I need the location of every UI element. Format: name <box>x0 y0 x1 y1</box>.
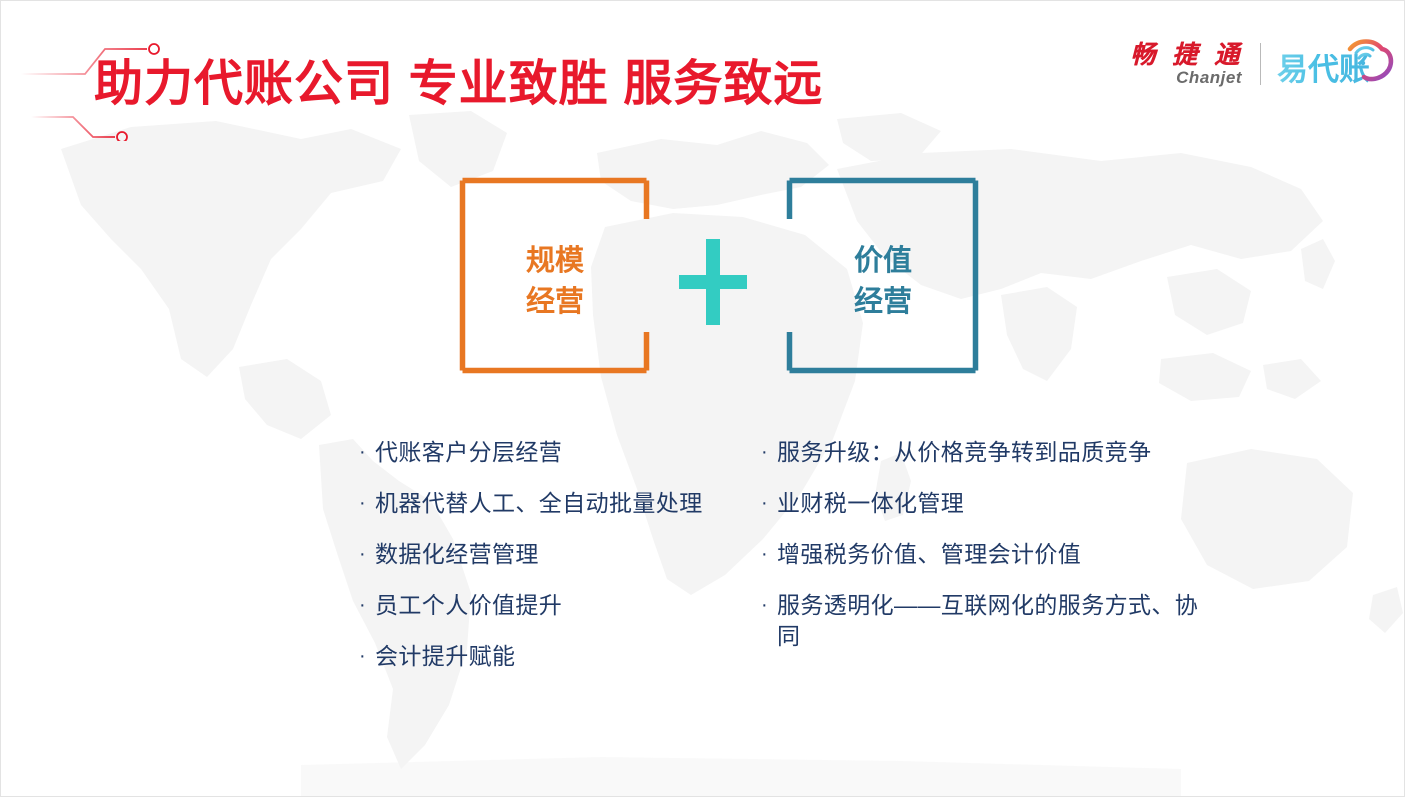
list-item: · 增强税务价值、管理会计价值 <box>761 539 1201 570</box>
cloud-wifi-icon <box>1344 37 1396 92</box>
list-item-label: 机器代替人工、全自动批量处理 <box>375 488 739 519</box>
list-item: · 服务透明化——互联网化的服务方式、协同 <box>761 590 1201 652</box>
list-item-label: 会计提升赋能 <box>375 641 739 672</box>
bullet-icon: · <box>359 539 375 570</box>
list-item: · 机器代替人工、全自动批量处理 <box>359 488 739 519</box>
list-item-label: 员工个人价值提升 <box>375 590 739 621</box>
value-bullet-list: · 服务升级：从价格竞争转到品质竞争 · 业财税一体化管理 · 增强税务价值、管… <box>761 437 1201 672</box>
bullet-icon: · <box>359 641 375 672</box>
list-item-label: 业财税一体化管理 <box>777 488 1201 519</box>
list-item: · 代账客户分层经营 <box>359 437 739 468</box>
logo-divider <box>1260 43 1261 85</box>
bullet-icon: · <box>359 488 375 519</box>
bullet-icon: · <box>761 488 777 519</box>
bullet-icon: · <box>761 437 777 468</box>
bullet-icon: · <box>359 590 375 621</box>
yidaizhang-logo: 易代账 <box>1277 41 1370 87</box>
bullet-icon: · <box>761 539 777 570</box>
bullet-icon: · <box>761 590 777 621</box>
scale-box-label: 规模 经营 <box>460 241 650 323</box>
list-item-label: 数据化经营管理 <box>375 539 739 570</box>
slide-canvas: 助力代账公司 专业致胜 服务致远 畅 捷 通 Chanjet 易代账 <box>0 0 1405 797</box>
list-item: · 员工个人价值提升 <box>359 590 739 621</box>
chanjet-logo: 畅 捷 通 Chanjet <box>1130 43 1244 86</box>
list-item: · 服务升级：从价格竞争转到品质竞争 <box>761 437 1201 468</box>
list-item: · 业财税一体化管理 <box>761 488 1201 519</box>
bullet-icon: · <box>359 437 375 468</box>
page-title: 助力代账公司 专业致胜 服务致远 <box>94 59 823 110</box>
scale-bullet-list: · 代账客户分层经营 · 机器代替人工、全自动批量处理 · 数据化经营管理 · … <box>359 437 739 692</box>
logo-group: 畅 捷 通 Chanjet 易代账 <box>1130 37 1370 91</box>
list-item-label: 代账客户分层经营 <box>375 437 739 468</box>
list-item-label: 服务透明化——互联网化的服务方式、协同 <box>777 590 1201 652</box>
chanjet-logo-cn: 畅 捷 通 <box>1130 43 1244 68</box>
value-box-label: 价值 经营 <box>787 241 979 323</box>
list-item-label: 服务升级：从价格竞争转到品质竞争 <box>777 437 1201 468</box>
chanjet-logo-en: Chanjet <box>1176 69 1242 86</box>
list-item: · 会计提升赋能 <box>359 641 739 672</box>
plus-operator-icon <box>679 239 747 325</box>
list-item-label: 增强税务价值、管理会计价值 <box>777 539 1201 570</box>
list-item: · 数据化经营管理 <box>359 539 739 570</box>
